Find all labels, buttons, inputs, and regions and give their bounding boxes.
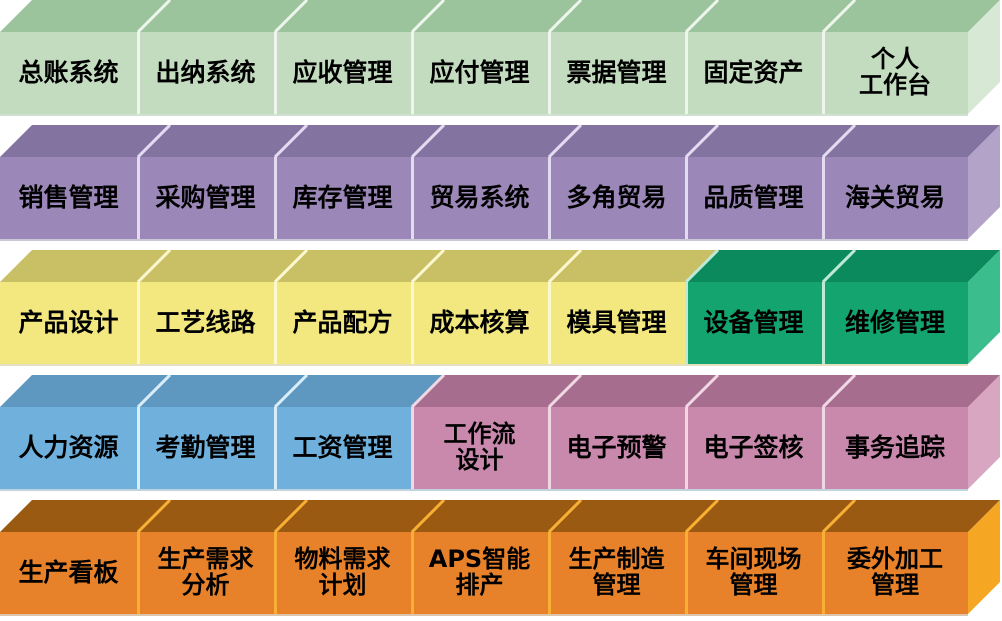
tile-divider [548,532,551,614]
module-tile[interactable]: 产品设计 [0,282,137,364]
module-tile[interactable]: 生产制造 管理 [548,532,685,614]
tile-divider [137,32,140,114]
module-tile[interactable]: 委外加工 管理 [822,532,968,614]
tile-divider [274,157,277,239]
module-tile[interactable]: 固定资产 [685,32,822,114]
bar-end-cap [968,250,1002,364]
module-tile-label: 总账系统 [16,60,120,86]
module-tile-label: 人力资源 [16,435,120,461]
module-tile[interactable]: 总账系统 [0,32,137,114]
bar-top-faces [0,250,1002,282]
module-tile-label: 生产需求 分析 [156,547,256,599]
bar-end-cap [968,0,1002,114]
tile-divider [411,157,414,239]
module-tile-label: 电子签核 [701,435,805,461]
bar-top-faces [0,125,1002,157]
module-tile-label: 个人 工作台 [857,47,933,99]
tile-divider [685,407,688,489]
module-row-distribution: 销售管理采购管理库存管理贸易系统多角贸易品质管理海关贸易 [0,125,1002,243]
module-tile[interactable]: 多角贸易 [548,157,685,239]
module-tile-label: 工作流 设计 [442,422,518,474]
module-tile[interactable]: 车间现场 管理 [685,532,822,614]
tile-divider [685,532,688,614]
bar-front-faces: 人力资源考勤管理工资管理工作流 设计电子预警电子签核事务追踪 [0,407,968,489]
module-row-body: 人力资源考勤管理工资管理工作流 设计电子预警电子签核事务追踪 [0,375,1002,493]
tile-divider [685,282,688,364]
module-tile[interactable]: 票据管理 [548,32,685,114]
module-tile[interactable]: 应付管理 [411,32,548,114]
tile-divider [137,407,140,489]
module-tile[interactable]: 模具管理 [548,282,685,364]
bar-end-cap [968,375,1002,489]
module-tile[interactable]: 生产需求 分析 [137,532,274,614]
module-tile-label: 出纳系统 [153,60,257,86]
tile-divider [685,157,688,239]
tile-divider [274,282,277,364]
module-tile-label: 考勤管理 [153,435,257,461]
bar-front-faces: 生产看板生产需求 分析物料需求 计划APS智能 排产生产制造 管理车间现场 管理… [0,532,968,614]
bar-top-faces [0,500,1002,532]
module-tile-label: 车间现场 管理 [704,547,804,599]
module-tile-label: 维修管理 [843,310,947,336]
tile-divider [411,532,414,614]
bar-end-cap [968,125,1002,239]
module-tile-label: 贸易系统 [427,185,531,211]
tile-divider [548,282,551,364]
module-tile-label: 销售管理 [16,185,120,211]
tile-divider [137,532,140,614]
module-tile[interactable]: 贸易系统 [411,157,548,239]
module-tile[interactable]: 应收管理 [274,32,411,114]
module-tile[interactable]: 事务追踪 [822,407,968,489]
module-tile[interactable]: 品质管理 [685,157,822,239]
tile-divider [411,282,414,364]
module-tile[interactable]: 海关贸易 [822,157,968,239]
module-tile[interactable]: 维修管理 [822,282,968,364]
module-tile-label: 事务追踪 [843,435,947,461]
module-tile[interactable]: 工艺线路 [137,282,274,364]
bar-front-faces: 销售管理采购管理库存管理贸易系统多角贸易品质管理海关贸易 [0,157,968,239]
module-tile-label: 应付管理 [427,60,531,86]
module-tile-label: 模具管理 [564,310,668,336]
module-tile-label: 工艺线路 [153,310,257,336]
module-row-body: 产品设计工艺线路产品配方成本核算模具管理设备管理维修管理 [0,250,1002,368]
module-tile-label: 库存管理 [290,185,394,211]
module-tile-label: 委外加工 管理 [845,547,945,599]
module-tile-label: 固定资产 [701,60,805,86]
module-tile[interactable]: 设备管理 [685,282,822,364]
module-tile-label: 品质管理 [701,185,805,211]
module-tile[interactable]: 生产看板 [0,532,137,614]
module-tile[interactable]: 人力资源 [0,407,137,489]
tile-divider [685,32,688,114]
module-tile[interactable]: 考勤管理 [137,407,274,489]
tile-divider [137,282,140,364]
module-tile[interactable]: 电子签核 [685,407,822,489]
module-tile[interactable]: 销售管理 [0,157,137,239]
tile-divider [822,407,825,489]
module-tile-label: 应收管理 [290,60,394,86]
module-tile-label: 票据管理 [564,60,668,86]
module-tile-label: 成本核算 [427,310,531,336]
module-tile-label: 工资管理 [290,435,394,461]
module-tile[interactable]: 成本核算 [411,282,548,364]
module-tile[interactable]: 库存管理 [274,157,411,239]
module-tile[interactable]: 产品配方 [274,282,411,364]
module-tile[interactable]: APS智能 排产 [411,532,548,614]
module-tile-label: 生产制造 管理 [567,547,667,599]
bar-top-faces [0,0,1002,32]
tile-divider [548,32,551,114]
tile-divider [274,532,277,614]
tile-divider [137,157,140,239]
module-row-engineering: 产品设计工艺线路产品配方成本核算模具管理设备管理维修管理 [0,250,1002,368]
module-row-finance: 总账系统出纳系统应收管理应付管理票据管理固定资产个人 工作台 [0,0,1002,118]
module-tile[interactable]: 电子预警 [548,407,685,489]
tile-divider [274,407,277,489]
tile-divider [822,282,825,364]
module-row-body: 销售管理采购管理库存管理贸易系统多角贸易品质管理海关贸易 [0,125,1002,243]
bar-top-faces [0,375,1002,407]
erp-module-map: 总账系统出纳系统应收管理应付管理票据管理固定资产个人 工作台销售管理采购管理库存… [0,0,1002,621]
tile-divider [548,407,551,489]
bar-front-faces: 产品设计工艺线路产品配方成本核算模具管理设备管理维修管理 [0,282,968,364]
module-row-manufacturing: 生产看板生产需求 分析物料需求 计划APS智能 排产生产制造 管理车间现场 管理… [0,500,1002,618]
module-tile-label: 产品设计 [16,310,120,336]
tile-divider [822,32,825,114]
module-row-body: 总账系统出纳系统应收管理应付管理票据管理固定资产个人 工作台 [0,0,1002,118]
module-row-hr-workflow: 人力资源考勤管理工资管理工作流 设计电子预警电子签核事务追踪 [0,375,1002,493]
module-tile-label: 物料需求 计划 [293,547,393,599]
bar-end-cap [968,500,1002,614]
tile-divider [822,157,825,239]
tile-divider [411,407,414,489]
module-tile-label: 采购管理 [153,185,257,211]
module-tile-label: 设备管理 [701,310,805,336]
module-tile[interactable]: 个人 工作台 [822,32,968,114]
tile-divider [411,32,414,114]
module-tile-label: 生产看板 [16,560,120,586]
module-tile-label: APS智能 排产 [427,547,532,599]
module-tile-label: 电子预警 [564,435,668,461]
bar-front-faces: 总账系统出纳系统应收管理应付管理票据管理固定资产个人 工作台 [0,32,968,114]
module-tile[interactable]: 采购管理 [137,157,274,239]
tile-divider [274,32,277,114]
tile-divider [822,532,825,614]
module-tile-label: 多角贸易 [564,185,668,211]
module-tile-label: 海关贸易 [843,185,947,211]
module-tile[interactable]: 物料需求 计划 [274,532,411,614]
tile-divider [548,157,551,239]
module-tile[interactable]: 工资管理 [274,407,411,489]
module-tile[interactable]: 出纳系统 [137,32,274,114]
module-tile-label: 产品配方 [290,310,394,336]
module-row-body: 生产看板生产需求 分析物料需求 计划APS智能 排产生产制造 管理车间现场 管理… [0,500,1002,618]
module-tile[interactable]: 工作流 设计 [411,407,548,489]
